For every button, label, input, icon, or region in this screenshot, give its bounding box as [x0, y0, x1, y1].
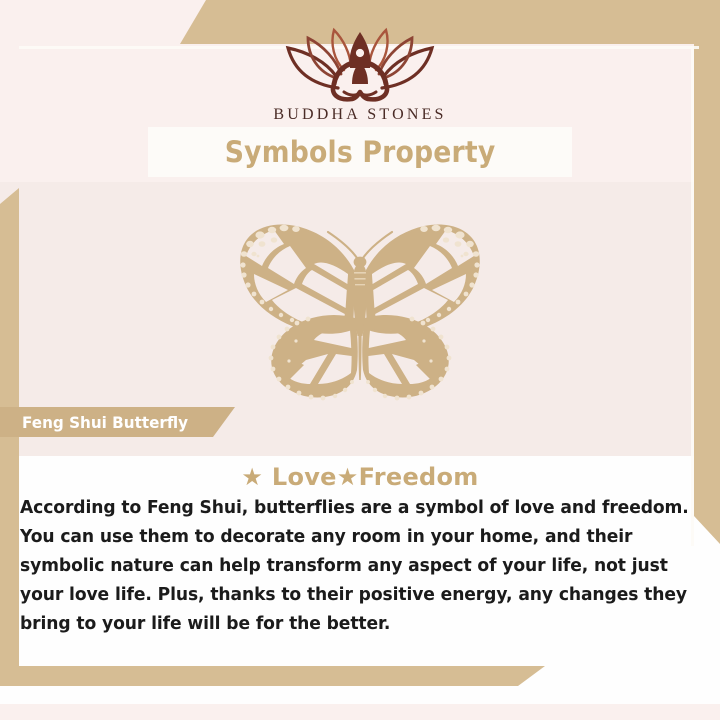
page-title: Symbols Property	[225, 135, 496, 169]
brand-name: BUDDHA STONES	[0, 106, 720, 124]
tag-label: Feng Shui Butterfly	[22, 413, 188, 432]
section-paragraph: According to Feng Shui, butterflies are …	[20, 494, 700, 639]
section-heading: ★ Love★Freedom	[0, 463, 720, 491]
lotus-meditation-icon	[0, 26, 720, 104]
brand-logo: BUDDHA STONES	[0, 26, 720, 124]
frame-bottom-bar	[0, 666, 545, 686]
frame-left-bar	[0, 188, 19, 686]
monarch-butterfly-icon	[210, 218, 510, 418]
symbols-property-card: BUDDHA STONES Symbols Property	[0, 0, 720, 720]
feng-shui-butterfly-tag: Feng Shui Butterfly	[0, 407, 235, 437]
title-banner: Symbols Property	[148, 127, 572, 177]
background-pink-footer	[0, 704, 720, 720]
